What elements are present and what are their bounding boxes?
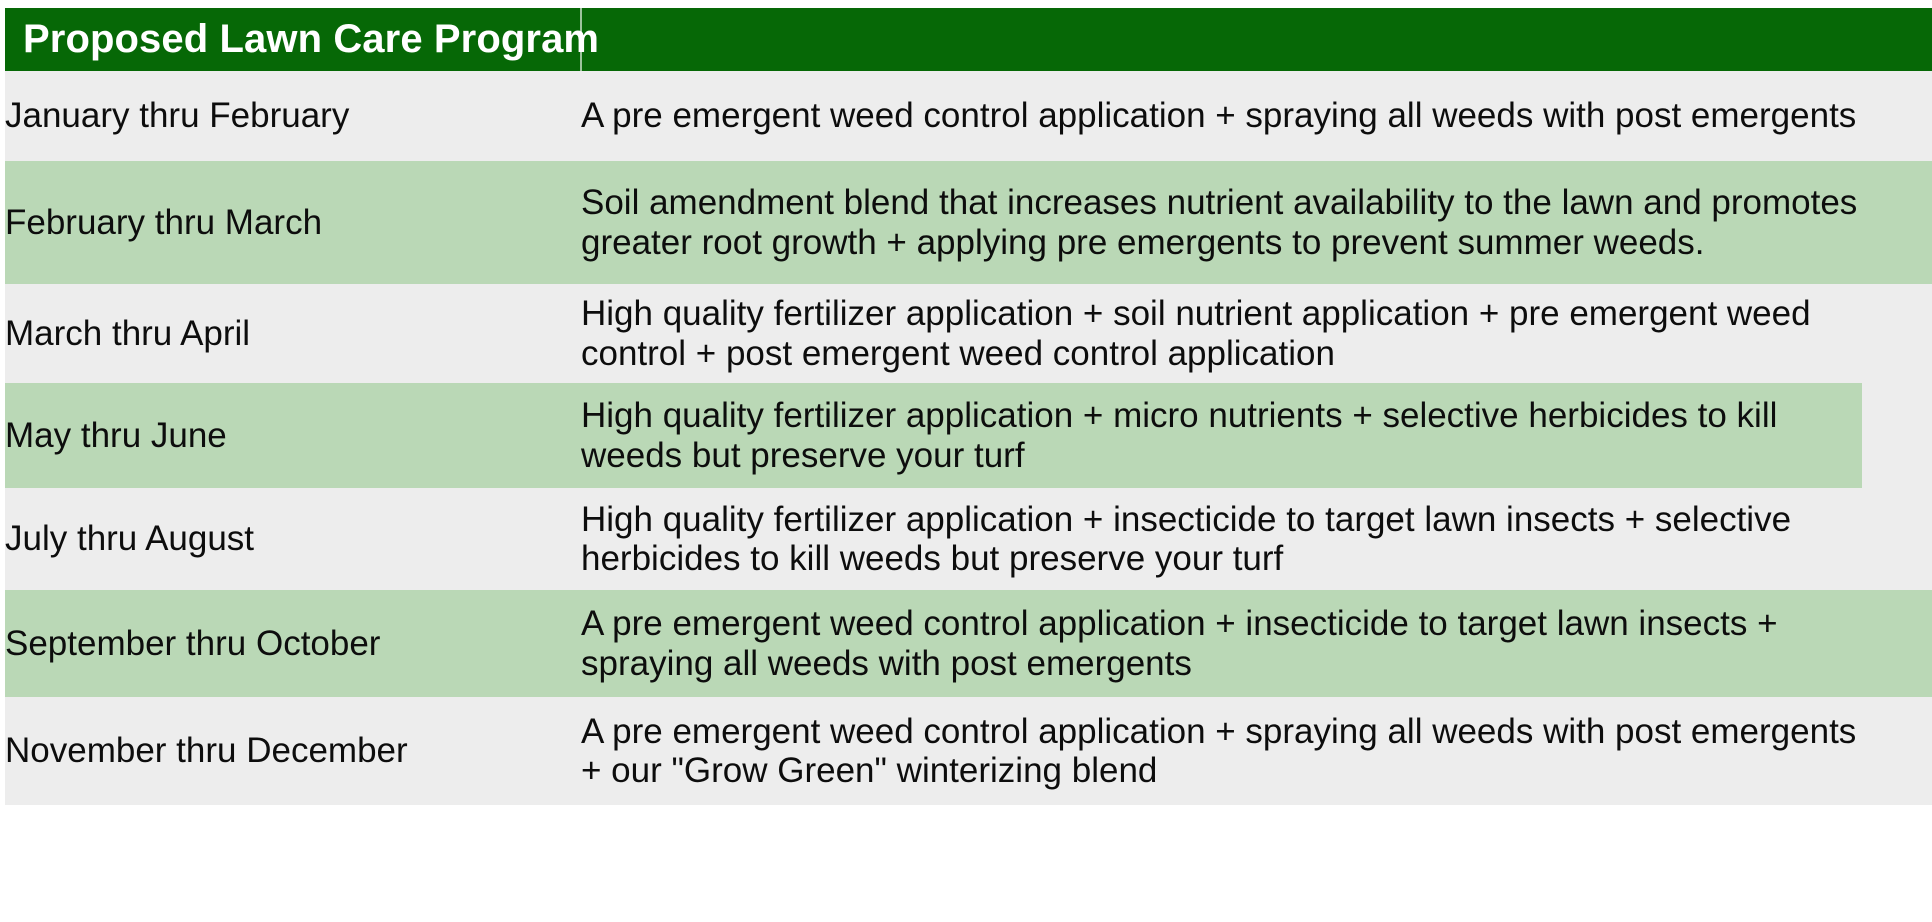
row-detail-text: A pre emergent weed control application … xyxy=(581,590,1862,697)
lawn-care-program-page: Proposed Lawn Care Program January thru … xyxy=(0,0,1932,922)
row-period-label: March thru April xyxy=(5,284,581,383)
row-spacer-cell xyxy=(1862,71,1932,161)
row-period-label: July thru August xyxy=(5,488,581,590)
table-row: November thru December A pre emergent we… xyxy=(5,697,1932,805)
row-detail-text: A pre emergent weed control application … xyxy=(581,697,1862,805)
row-period-label: November thru December xyxy=(5,697,581,805)
row-period-label: May thru June xyxy=(5,383,581,488)
row-detail-text: A pre emergent weed control application … xyxy=(581,71,1862,161)
row-spacer-cell xyxy=(1862,161,1932,284)
table-row: January thru February A pre emergent wee… xyxy=(5,71,1932,161)
row-spacer-cell xyxy=(1862,590,1932,697)
row-spacer-cell xyxy=(1862,284,1932,383)
row-period-label: September thru October xyxy=(5,590,581,697)
table-row: May thru June High quality fertilizer ap… xyxy=(5,383,1932,488)
row-detail-text: Soil amendment blend that increases nutr… xyxy=(581,161,1862,284)
table-header: Proposed Lawn Care Program xyxy=(5,8,1932,71)
row-spacer-cell xyxy=(1862,383,1932,488)
row-detail-text: High quality fertilizer application + so… xyxy=(581,284,1862,383)
lawn-care-program-table: Proposed Lawn Care Program January thru … xyxy=(5,8,1932,805)
row-detail-text: High quality fertilizer application + mi… xyxy=(581,383,1862,488)
row-spacer-cell xyxy=(1862,697,1932,805)
row-period-label: February thru March xyxy=(5,161,581,284)
page-title: Proposed Lawn Care Program xyxy=(5,8,581,71)
header-blank-cell xyxy=(581,8,1862,71)
table-row: February thru March Soil amendment blend… xyxy=(5,161,1932,284)
header-spacer-cell xyxy=(1862,8,1932,71)
table-row: September thru October A pre emergent we… xyxy=(5,590,1932,697)
row-period-label: January thru February xyxy=(5,71,581,161)
table-body: January thru February A pre emergent wee… xyxy=(5,71,1932,805)
table-row: March thru April High quality fertilizer… xyxy=(5,284,1932,383)
row-detail-text: High quality fertilizer application + in… xyxy=(581,488,1862,590)
table-row: July thru August High quality fertilizer… xyxy=(5,488,1932,590)
row-spacer-cell xyxy=(1862,488,1932,590)
header-row: Proposed Lawn Care Program xyxy=(5,8,1932,71)
